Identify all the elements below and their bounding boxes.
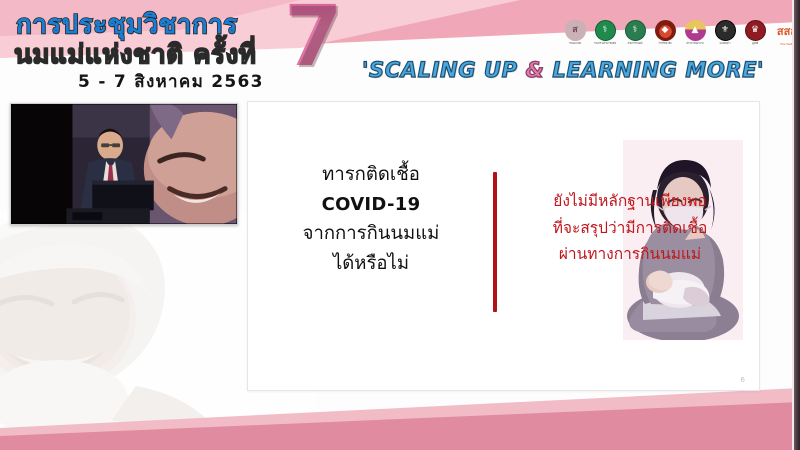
logo-black-circle-emblem: ⚜ แพทยสภา [712, 16, 738, 46]
logo-caption: แพทยสภา [720, 42, 731, 46]
slide-page-number: 6 [741, 376, 745, 384]
logo-caption: สภาการพยาบาล [686, 42, 703, 46]
logo-ministry-seal: ส กรมอนามัย [562, 16, 588, 46]
logo-health-dept-green: ⚕ กรมการแพทย์ [622, 16, 648, 46]
slide-question-text: ทารกติดเชื้อ COVID-19 จากการกินนมแม่ ได้… [268, 160, 474, 279]
logo-crown-red-emblem-icon: ♛ [745, 20, 766, 41]
conference-speaker-video[interactable] [10, 103, 238, 225]
window-frame-right-edge [794, 0, 800, 450]
answer-line-3: ผ่านทางการกินนมแม่ [510, 241, 750, 268]
question-line-1: ทารกติดเชื้อ [268, 160, 474, 190]
tagline-post: LEARNING MORE' [544, 58, 764, 82]
logo-ministry-seal-icon: ส [565, 20, 586, 41]
tagline-ampersand: & [526, 58, 545, 82]
logo-caption: มูลนิธิ [752, 42, 758, 46]
logo-caption: กรมอนามัย [569, 42, 581, 46]
slide-answer-text: ยังไม่มีหลักฐานเพียงพอ ที่จะสรุปว่ามีการ… [510, 188, 750, 268]
tagline-pre: 'SCALING UP [362, 58, 526, 82]
logo-pagoda-emblem-icon: ▲ [685, 20, 706, 41]
logo-crown-red-emblem: ♛ มูลนิธิ [742, 16, 768, 46]
conference-date: 5 - 7 สิงหาคม 2563 [78, 68, 264, 95]
edition-number: 7 [284, 0, 342, 78]
logo-public-health-green-icon: ⚕ [595, 20, 616, 41]
conference-tagline: 'SCALING UP & LEARNING MORE' [362, 58, 764, 82]
logo-black-circle-emblem-icon: ⚜ [715, 20, 736, 41]
red-vertical-divider [493, 172, 497, 312]
answer-line-2: ที่จะสรุปว่ามีการติดเชื้อ [510, 215, 750, 242]
logo-public-health-green: ⚕ กระทรวงสาธารณสุข [592, 16, 618, 46]
slide-content-card: ทารกติดเชื้อ COVID-19 จากการกินนมแม่ ได้… [247, 101, 760, 391]
logo-royal-emblem-icon: ◆ [655, 20, 676, 41]
logo-royal-emblem: ◆ ราชวิทยาลัย [652, 16, 678, 46]
logo-caption: ราชวิทยาลัย [659, 42, 672, 46]
question-line-4: ได้หรือไม่ [268, 249, 474, 279]
presentation-screenshot: 7 การประชุมวิชาการ นมแม่แห่งชาติ ครั้งที… [0, 0, 800, 450]
question-line-3: จากการกินนมแม่ [268, 219, 474, 249]
logo-caption: กระทรวงสาธารณสุข [594, 42, 616, 46]
answer-line-1: ยังไม่มีหลักฐานเพียงพอ [510, 188, 750, 215]
logo-pagoda-emblem: ▲ สภาการพยาบาล [682, 16, 708, 46]
sponsor-logos-row: ส กรมอนามัย ⚕ กระทรวงสาธารณสุข ⚕ กรมการแ… [562, 16, 800, 46]
logo-health-dept-green-icon: ⚕ [625, 20, 646, 41]
logo-caption: กรมการแพทย์ [628, 42, 643, 46]
question-line-2: COVID-19 [268, 190, 474, 219]
bottom-pink-band [0, 388, 800, 450]
